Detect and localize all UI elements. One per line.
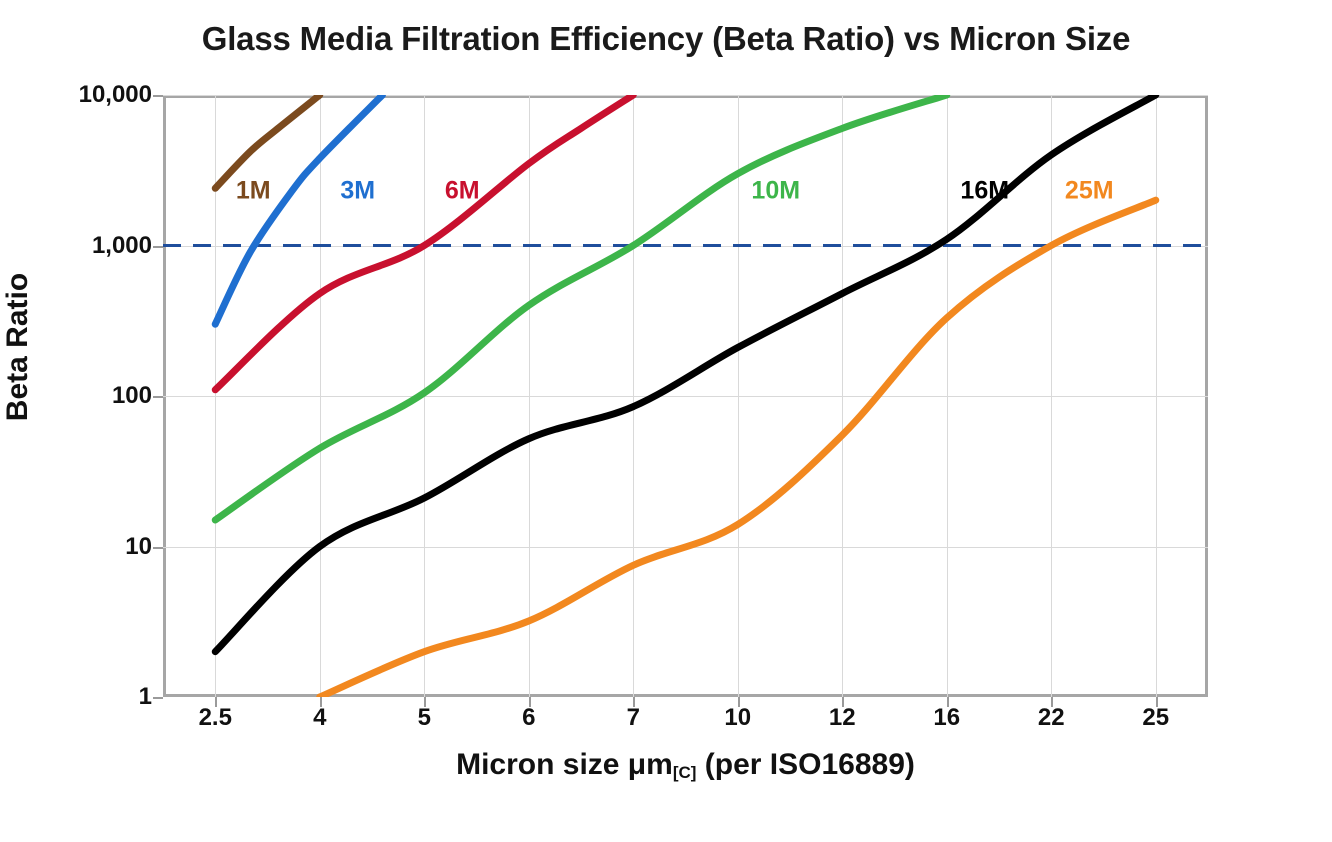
series-line-25m <box>320 200 1156 697</box>
x-axis-tick-label: 6 <box>522 704 535 732</box>
y-axis-tick <box>153 547 163 549</box>
x-axis-tick-label: 10 <box>724 704 751 732</box>
series-label-25m: 25M <box>1065 177 1114 206</box>
series-label-3m: 3M <box>340 177 375 206</box>
series-label-16m: 16M <box>960 177 1009 206</box>
series-curves <box>163 95 1208 697</box>
y-axis-tick <box>153 95 163 97</box>
x-axis-tick-label: 7 <box>627 704 640 732</box>
y-axis-title: Beta Ratio <box>1 117 35 577</box>
x-axis-title: Micron size μm[C] (per ISO16889) <box>163 748 1208 783</box>
x-axis-tick-label: 4 <box>313 704 326 732</box>
page-title: Glass Media Filtration Efficiency (Beta … <box>0 20 1332 58</box>
series-label-6m: 6M <box>445 177 480 206</box>
x-axis-title-sub: [C] <box>673 763 697 782</box>
x-axis-tick-label: 25 <box>1142 704 1169 732</box>
y-axis-tick <box>153 396 163 398</box>
x-axis-tick-labels: 2.545671012162225 <box>163 704 1208 744</box>
x-axis-title-suffix: (per ISO16889) <box>696 748 914 781</box>
series-line-6m <box>215 95 633 390</box>
x-axis-title-main: Micron size μm <box>456 748 673 781</box>
y-axis-tick <box>153 697 163 699</box>
series-line-3m <box>215 95 382 324</box>
x-axis-tick-label: 2.5 <box>199 704 232 732</box>
series-label-10m: 10M <box>751 177 800 206</box>
series-line-10m <box>215 95 947 520</box>
y-axis-tick-label: 10,000 <box>10 81 152 109</box>
series-label-1m: 1M <box>236 177 271 206</box>
x-axis-tick-label: 22 <box>1038 704 1065 732</box>
x-axis-tick-label: 5 <box>418 704 431 732</box>
y-axis-tick <box>153 246 163 248</box>
x-axis-tick-label: 16 <box>933 704 960 732</box>
y-axis-tick-label: 1 <box>10 683 152 711</box>
x-axis-tick-label: 12 <box>829 704 856 732</box>
chart-root: Glass Media Filtration Efficiency (Beta … <box>0 0 1332 842</box>
plot-area: 1M3M6M10M16M25M <box>163 95 1208 697</box>
